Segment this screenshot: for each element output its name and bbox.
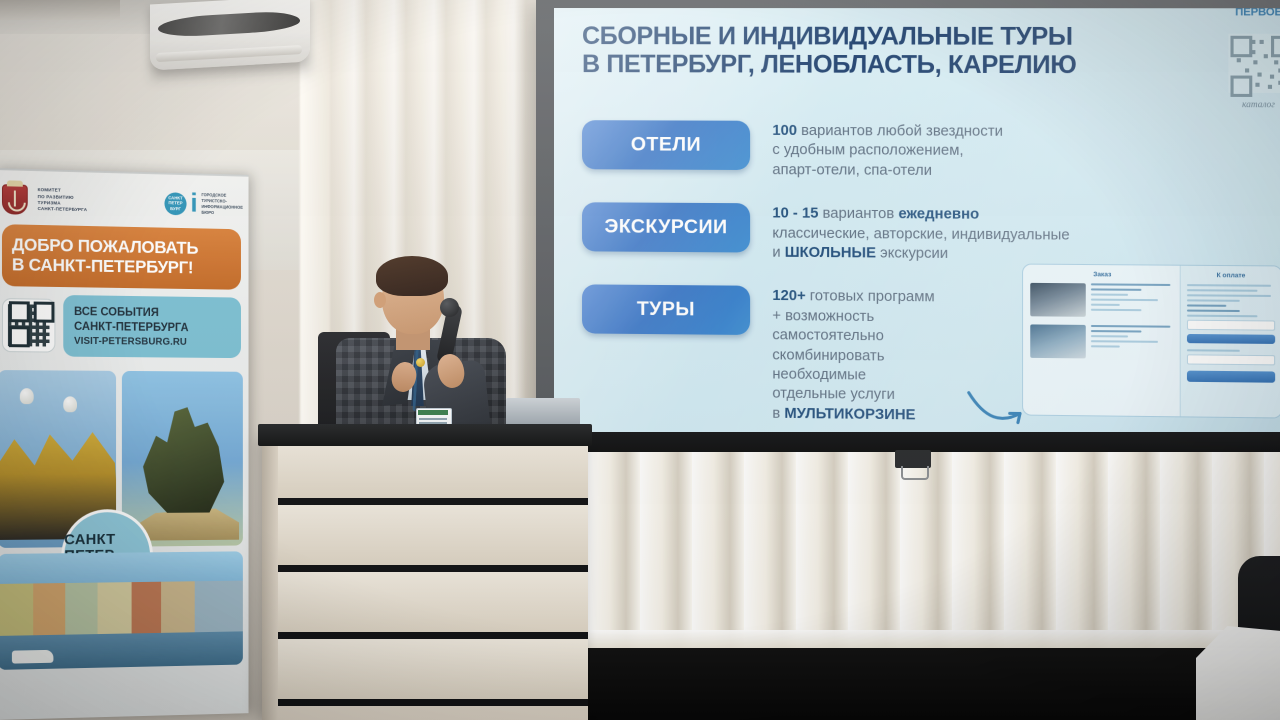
tours-line-6: отдельные услуги — [772, 385, 934, 406]
hotels-line-2: с удобным расположением, — [772, 141, 1003, 162]
speaker-hair — [376, 256, 448, 296]
events-url: VISIT-PETERSBURG.RU — [74, 335, 241, 348]
lectern-side — [262, 438, 278, 720]
comment-input[interactable] — [1187, 354, 1275, 365]
qr-panel-title: ПЕРВОЕ — [1222, 8, 1280, 20]
hotels-lead-rest: вариантов любой звездности — [797, 123, 1003, 140]
welcome-block: ДОБРО ПОЖАЛОВАТЬ В САНКТ-ПЕТЕРБУРГ! — [2, 224, 241, 290]
tic-logo: САНКТ ПЕТЕР БУРГ i ГОРОДСКОЕ ТУРИСТСКО- … — [164, 192, 242, 217]
tours-line-4: скомбинировать — [772, 346, 934, 367]
order-item-lines — [1091, 283, 1175, 317]
spb-coat-of-arms-icon — [2, 184, 28, 215]
promo-input[interactable] — [1187, 320, 1275, 331]
exc-line-3-pre: и — [772, 245, 784, 261]
exc-line-3-bold: ШКОЛЬНЫЕ — [785, 245, 876, 262]
exc-lead: 10 - 15 — [772, 206, 818, 222]
tours-lead-rest: готовых программ — [806, 289, 935, 306]
exc-line-2: классические, авторские, индивидуальные — [772, 224, 1069, 246]
row-excursions: ЭКСКУРСИИ 10 - 15 вариантов ежедневно кл… — [582, 202, 1276, 266]
qr-code-icon — [2, 298, 55, 352]
tours-line-5: необходимые — [772, 365, 934, 386]
ac-vent — [158, 10, 300, 38]
tours-line-3: самостоятельно — [772, 326, 934, 347]
floor — [560, 648, 1280, 720]
skirt-hem — [588, 630, 1280, 648]
hotels-line-3: апарт-отели, спа-отели — [772, 161, 1003, 182]
presentation-photo-scene: КОМИТЕТ ПО РАЗВИТИЮ ТУРИЗМА САНКТ-ПЕТЕРБ… — [0, 0, 1280, 720]
payment-header: К оплате — [1187, 272, 1275, 280]
speaker-ear — [374, 292, 386, 308]
welcome-line-2: В САНКТ-ПЕТЕРБУРГ! — [12, 255, 241, 278]
air-conditioner-icon — [150, 0, 310, 70]
events-pill: ВСЕ СОБЫТИЯ САНКТ-ПЕТЕРБУРГА VISIT-PETER… — [63, 295, 241, 358]
order-header: Заказ — [1030, 271, 1174, 279]
order-thumbnail — [1030, 283, 1086, 317]
payment-panel: К оплате — [1180, 266, 1280, 418]
qr-code-icon[interactable] — [1228, 34, 1280, 93]
tours-line-7-bold: МУЛЬТИКОРЗИНЕ — [784, 406, 915, 424]
tours-lead: 120+ — [772, 288, 805, 304]
pill-hotels[interactable]: ОТЕЛИ — [582, 120, 750, 170]
row-hotels: ОТЕЛИ 100 вариантов любой звездности с у… — [582, 120, 1276, 183]
badge-header-bar — [418, 410, 448, 415]
exc-lead-rest: вариантов — [818, 206, 898, 223]
pill-tours[interactable]: ТУРЫ — [582, 285, 750, 336]
order-thumbnail — [1030, 324, 1086, 358]
slide-qr-panel: ПЕРВОЕ — [1222, 8, 1280, 226]
exc-line-3-post: экскурсии — [876, 245, 948, 262]
banner-logos: КОМИТЕТ ПО РАЗВИТИЮ ТУРИЗМА САНКТ-ПЕТЕРБ… — [2, 178, 243, 225]
order-item — [1030, 283, 1174, 318]
tic-city-badge: САНКТ ПЕТЕР БУРГ — [164, 192, 186, 215]
slide-title: СБОРНЫЕ И ИНДИВИДУАЛЬНЫЕ ТУРЫ В ПЕТЕРБУР… — [582, 22, 1090, 80]
order-item — [1030, 324, 1174, 359]
lectern-top — [258, 424, 592, 446]
bronze-horseman-photo — [122, 371, 243, 547]
book-button[interactable] — [1187, 370, 1275, 382]
committee-logo-text: КОМИТЕТ ПО РАЗВИТИЮ ТУРИЗМА САНКТ-ПЕТЕРБ… — [38, 187, 87, 213]
curved-arrow-icon — [967, 389, 1028, 430]
soffit — [0, 0, 120, 20]
order-item-lines — [1091, 325, 1175, 359]
presentation-slide: СБОРНЫЕ И ИНДИВИДУАЛЬНЫЕ ТУРЫ В ПЕТЕРБУР… — [554, 8, 1280, 449]
qr-caption: каталог — [1222, 99, 1280, 109]
projection-screen: СБОРНЫЕ И ИНДИВИДУАЛЬНЫЕ ТУРЫ В ПЕТЕРБУР… — [536, 0, 1280, 466]
hotels-lead: 100 — [772, 123, 797, 139]
tic-logo-text: ГОРОДСКОЕ ТУРИСТСКО- ИНФОРМАЦИОННОЕ БЮРО — [201, 192, 242, 216]
banner-photos: САНКТ ПЕТЕР БУРГ — [0, 364, 247, 614]
lapel-pin-icon — [416, 358, 425, 367]
excursions-text: 10 - 15 вариантов ежедневно классические… — [772, 204, 1069, 266]
information-i-icon: i — [190, 193, 197, 214]
apply-promo-button[interactable] — [1187, 334, 1275, 344]
embankment-photo — [0, 551, 243, 670]
exc-lead-bold2: ежедневно — [898, 206, 979, 223]
rollup-banner: КОМИТЕТ ПО РАЗВИТИЮ ТУРИЗМА САНКТ-ПЕТЕРБ… — [0, 168, 249, 720]
hotels-text: 100 вариантов любой звездности с удобным… — [772, 121, 1003, 182]
order-panel: Заказ — [1023, 265, 1180, 417]
pill-excursions[interactable]: ЭКСКУРСИИ — [582, 202, 750, 252]
events-line-2: САНКТ-ПЕТЕРБУРГА — [74, 319, 241, 335]
ac-lip — [156, 45, 302, 62]
speaker-person — [330, 258, 510, 444]
tours-text: 120+ готовых программ + возможность само… — [772, 286, 934, 426]
speaker-mount — [901, 466, 929, 480]
microphone-head — [440, 298, 459, 317]
events-block: ВСЕ СОБЫТИЯ САНКТ-ПЕТЕРБУРГА VISIT-PETER… — [2, 294, 241, 358]
lectern — [262, 438, 588, 720]
tours-line-2: + возможность — [772, 307, 934, 328]
tours-line-7-pre: в — [772, 406, 784, 422]
booking-screenshot-inset: Заказ — [1022, 264, 1280, 419]
